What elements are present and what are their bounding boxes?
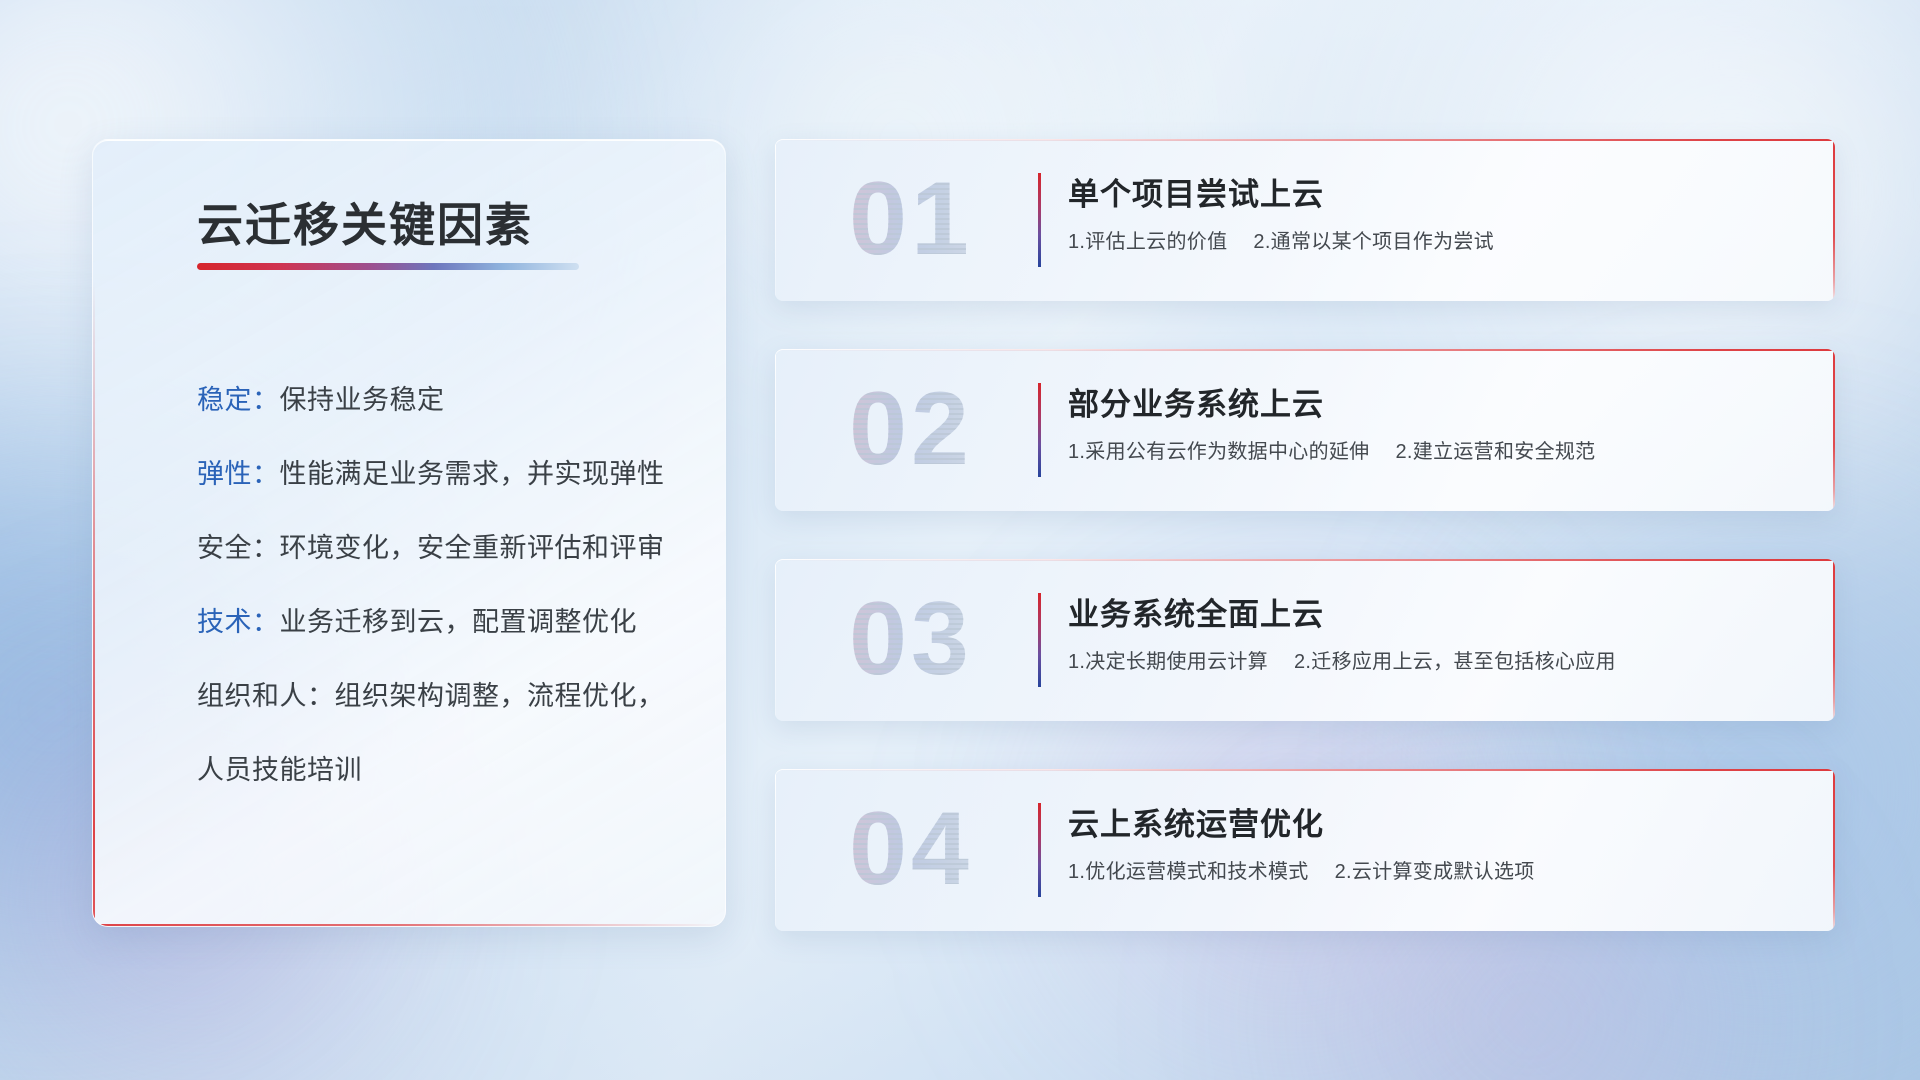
- factor-text: 人员技能培训: [197, 755, 362, 785]
- factor-item-elasticity: 弹性：性能满足业务需求，并实现弹性: [197, 452, 665, 491]
- stage-divider-bar: [1038, 803, 1041, 897]
- stage-number: 04: [811, 783, 1011, 915]
- stage-title: 部分业务系统上云: [1068, 379, 1324, 424]
- factor-item-stability: 稳定：保持业务稳定: [197, 378, 445, 417]
- stage-description: 1.评估上云的价值2.通常以某个项目作为尝试: [1068, 225, 1494, 254]
- factor-item-technology: 技术：业务迁移到云，配置调整优化: [197, 600, 637, 639]
- stage-divider-bar: [1038, 383, 1041, 477]
- card-top-accent: [775, 769, 1835, 771]
- stage-card-03[interactable]: 03 业务系统全面上云 1.决定长期使用云计算2.迁移应用上云，甚至包括核心应用: [775, 559, 1835, 721]
- factor-label: 组织和人：: [197, 681, 335, 711]
- stage-point-2: 2.迁移应用上云，甚至包括核心应用: [1294, 651, 1616, 673]
- stage-description: 1.优化运营模式和技术模式2.云计算变成默认选项: [1068, 855, 1535, 884]
- key-factors-panel: 云迁移关键因素 稳定：保持业务稳定 弹性：性能满足业务需求，并实现弹性 安全：环…: [92, 139, 726, 927]
- stage-title: 单个项目尝试上云: [1068, 169, 1324, 214]
- panel-left-accent-border: [93, 140, 95, 926]
- factor-item-organization: 组织和人：组织架构调整，流程优化，: [197, 674, 665, 713]
- card-left-highlight: [775, 559, 776, 721]
- stage-card-01[interactable]: 01 单个项目尝试上云 1.评估上云的价值2.通常以某个项目作为尝试: [775, 139, 1835, 301]
- stage-point-1: 1.优化运营模式和技术模式: [1068, 861, 1309, 883]
- factor-item-security: 安全：环境变化，安全重新评估和评审: [197, 526, 665, 565]
- factor-text: 性能满足业务需求，并实现弹性: [280, 459, 665, 489]
- stage-description: 1.采用公有云作为数据中心的延伸2.建立运营和安全规范: [1068, 435, 1595, 464]
- card-right-accent: [1833, 769, 1835, 931]
- stage-point-2: 2.通常以某个项目作为尝试: [1253, 231, 1494, 253]
- panel-bottom-accent-border: [93, 924, 725, 926]
- stage-point-1: 1.采用公有云作为数据中心的延伸: [1068, 441, 1369, 463]
- factor-label: 安全：: [197, 533, 280, 563]
- stage-point-2: 2.云计算变成默认选项: [1335, 861, 1535, 883]
- card-right-accent: [1833, 559, 1835, 721]
- factor-label: 弹性：: [197, 459, 280, 489]
- stage-title: 业务系统全面上云: [1068, 589, 1324, 634]
- card-top-accent: [775, 139, 1835, 141]
- factor-text: 保持业务稳定: [280, 385, 445, 415]
- stage-divider-bar: [1038, 593, 1041, 687]
- stage-number: 03: [811, 573, 1011, 705]
- stage-title: 云上系统运营优化: [1068, 799, 1324, 844]
- card-top-accent: [775, 559, 1835, 561]
- card-left-highlight: [775, 139, 776, 301]
- factor-label: 技术：: [197, 607, 280, 637]
- card-left-highlight: [775, 349, 776, 511]
- stage-description: 1.决定长期使用云计算2.迁移应用上云，甚至包括核心应用: [1068, 645, 1616, 674]
- stage-number: 01: [811, 153, 1011, 285]
- factor-label: 稳定：: [197, 385, 280, 415]
- card-left-highlight: [775, 769, 776, 931]
- card-top-accent: [775, 349, 1835, 351]
- stage-card-04[interactable]: 04 云上系统运营优化 1.优化运营模式和技术模式2.云计算变成默认选项: [775, 769, 1835, 931]
- stage-card-02[interactable]: 02 部分业务系统上云 1.采用公有云作为数据中心的延伸2.建立运营和安全规范: [775, 349, 1835, 511]
- stage-number: 02: [811, 363, 1011, 495]
- factor-item-organization-cont: 人员技能培训: [197, 748, 362, 787]
- factor-text: 环境变化，安全重新评估和评审: [280, 533, 665, 563]
- panel-top-highlight: [93, 140, 725, 141]
- panel-title: 云迁移关键因素: [197, 189, 533, 255]
- stage-point-1: 1.评估上云的价值: [1068, 231, 1227, 253]
- stage-point-2: 2.建立运营和安全规范: [1395, 441, 1595, 463]
- stage-point-1: 1.决定长期使用云计算: [1068, 651, 1268, 673]
- factor-text: 业务迁移到云，配置调整优化: [280, 607, 638, 637]
- factor-text: 组织架构调整，流程优化，: [335, 681, 665, 711]
- card-right-accent: [1833, 349, 1835, 511]
- card-right-accent: [1833, 139, 1835, 301]
- stage-divider-bar: [1038, 173, 1041, 267]
- panel-title-underline: [197, 263, 579, 270]
